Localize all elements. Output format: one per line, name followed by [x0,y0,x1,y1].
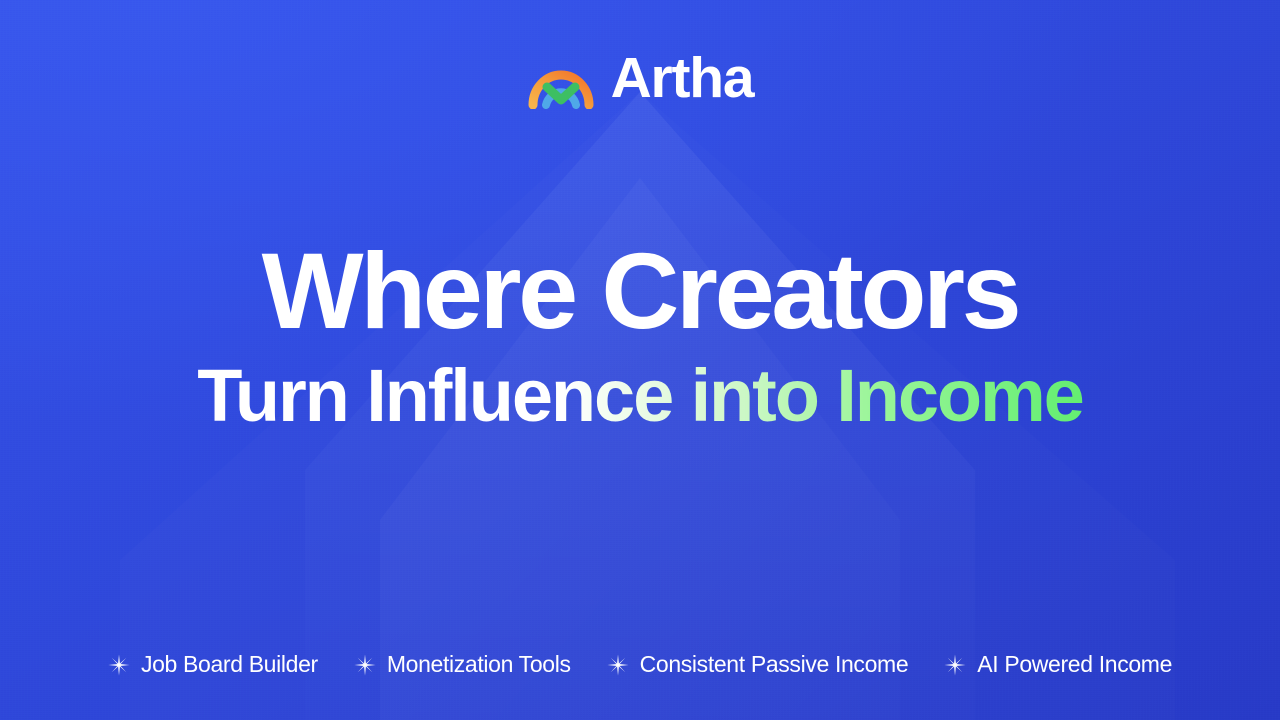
arch-logo-icon [527,47,595,109]
feature-label: AI Powered Income [977,653,1172,676]
feature-item: Consistent Passive Income [607,653,909,676]
feature-label: Consistent Passive Income [640,653,909,676]
sparkle-icon [944,654,966,676]
brand-name: Artha [611,50,754,107]
feature-item: AI Powered Income [944,653,1172,676]
sparkle-icon [108,654,130,676]
brand-lockup: Artha [0,47,1280,109]
sparkle-icon [607,654,629,676]
feature-label: Job Board Builder [141,653,318,676]
page-title: Where Creators Turn Influence into Incom… [0,236,1280,435]
sparkle-icon [354,654,376,676]
feature-list: Job Board Builder Monetization Tools Con… [0,653,1280,676]
feature-item: Job Board Builder [108,653,318,676]
hero-banner: Artha Where Creators Turn Influence into… [0,0,1280,720]
headline-line-2: Turn Influence into Income [0,358,1280,435]
feature-label: Monetization Tools [387,653,571,676]
headline-line-1: Where Creators [0,236,1280,346]
feature-item: Monetization Tools [354,653,571,676]
